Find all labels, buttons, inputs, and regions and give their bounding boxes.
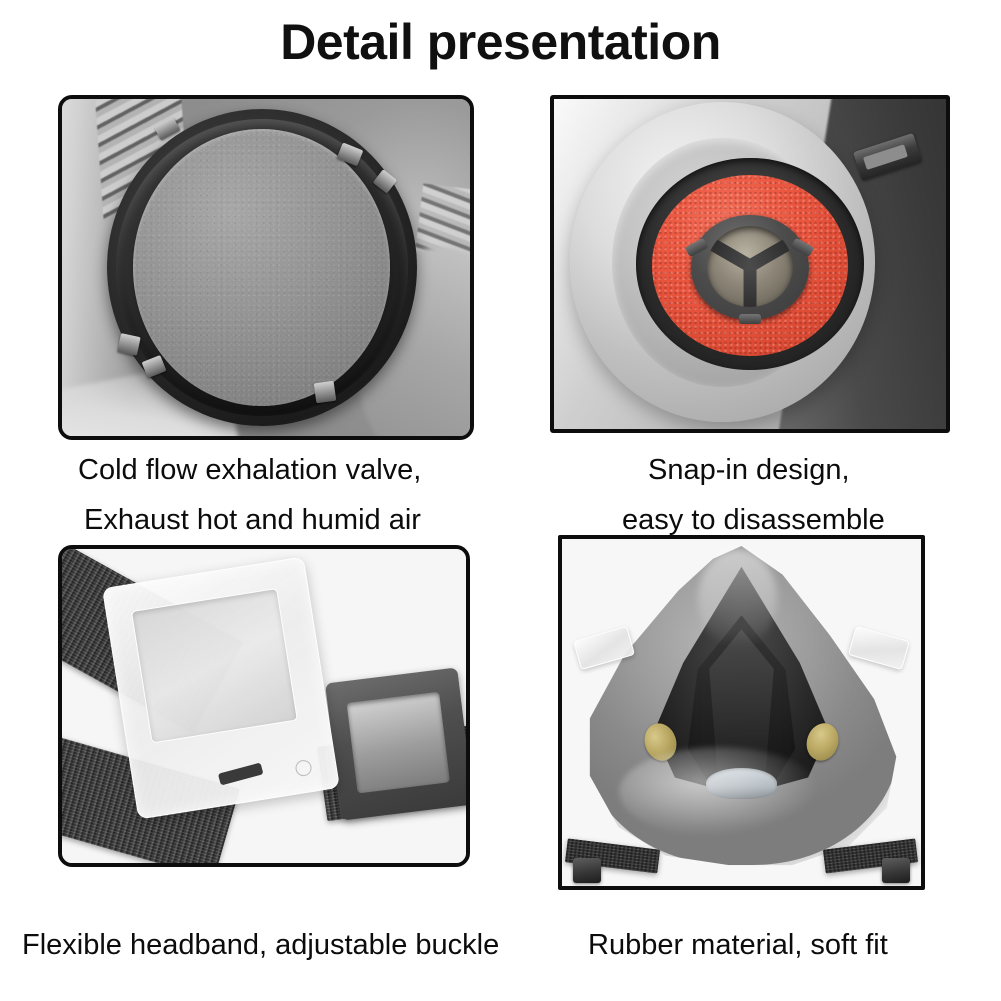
connector-spoke <box>710 240 753 272</box>
dark-buckle-half <box>325 667 466 820</box>
valve-ring-tab <box>314 381 337 404</box>
connector-spoke <box>744 266 757 306</box>
caption-exhalation-valve-line2: Exhaust hot and humid air <box>84 497 421 543</box>
caption-headband-buckle: Flexible headband, adjustable buckle <box>22 922 499 968</box>
strap-buckle-right <box>882 858 911 882</box>
caption-exhalation-valve-line1: Cold flow exhalation valve, <box>78 447 421 493</box>
bayonet-lug <box>739 314 760 325</box>
connector-bore <box>707 226 793 307</box>
dark-buckle-window <box>346 692 450 794</box>
strap-buckle-left <box>573 858 602 882</box>
headband-buckle-image <box>62 549 466 863</box>
translucent-adjustment-buckle <box>101 556 339 819</box>
facepiece-highlight-lower <box>619 747 820 837</box>
caption-rubber-facepiece: Rubber material, soft fit <box>588 922 888 968</box>
rubber-facepiece-image <box>562 539 921 886</box>
buckle-slot <box>217 762 263 785</box>
page-title: Detail presentation <box>0 12 1001 72</box>
photo-panel-headband-buckle[interactable] <box>58 545 470 867</box>
caption-snap-in-line2: easy to disassemble <box>622 497 885 543</box>
photo-panel-snap-in-filter-seat[interactable] <box>550 95 950 433</box>
facepiece-highlight-upper <box>698 549 777 646</box>
connector-spoke <box>747 240 790 272</box>
caption-snap-in-line1: Snap-in design, <box>648 447 850 493</box>
exhalation-valve-image <box>62 99 470 436</box>
buckle-window <box>131 588 298 744</box>
valve-diaphragm-disc <box>133 129 390 405</box>
snap-in-filter-seat-image <box>554 99 946 429</box>
photo-panel-rubber-facepiece[interactable] <box>558 535 925 890</box>
photo-panel-exhalation-valve[interactable] <box>58 95 474 440</box>
buckle-pivot-dot <box>294 759 312 777</box>
